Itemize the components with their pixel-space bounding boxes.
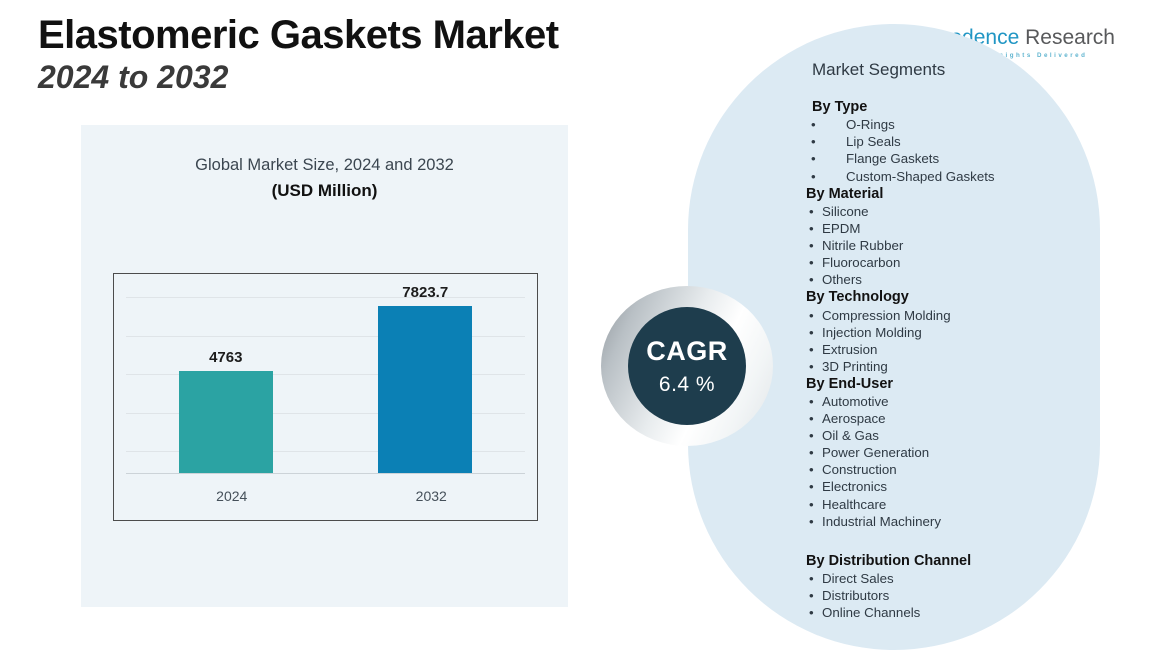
- logo-name-research: Research: [1019, 26, 1115, 49]
- segment-spacer: [806, 530, 1096, 552]
- segment-item: Silicone: [806, 203, 1096, 220]
- segment-group-title: By Material: [806, 185, 1096, 203]
- segment-item: Others: [806, 271, 1096, 288]
- segment-item: Online Channels: [806, 604, 1096, 621]
- bar-value-2032: 7823.7: [402, 284, 448, 301]
- cagr-label: CAGR: [646, 338, 728, 365]
- segment-item: O-Rings: [806, 116, 1096, 133]
- segment-item: Compression Molding: [806, 307, 1096, 324]
- segment-item: Construction: [806, 461, 1096, 478]
- main-title: Elastomeric Gaskets Market: [38, 14, 658, 57]
- plot-area: 4763 7823.7: [126, 282, 525, 474]
- bar-chart: 4763 7823.7 2024 2032: [113, 273, 538, 521]
- segment-group-title: By Type: [806, 98, 1096, 116]
- segment-item: Aerospace: [806, 410, 1096, 427]
- segment-item: EPDM: [806, 220, 1096, 237]
- segment-item: Automotive: [806, 393, 1096, 410]
- chart-panel: Global Market Size, 2024 and 2032 (USD M…: [81, 125, 568, 607]
- axis-baseline: [126, 473, 525, 474]
- segment-item: Distributors: [806, 587, 1096, 604]
- segment-item: Nitrile Rubber: [806, 237, 1096, 254]
- segment-item: Extrusion: [806, 341, 1096, 358]
- cagr-circle: CAGR 6.4 %: [628, 307, 746, 425]
- market-segments-title: Market Segments: [812, 60, 945, 80]
- chart-heading: Global Market Size, 2024 and 2032 (USD M…: [81, 125, 568, 203]
- bar-2032[interactable]: 7823.7: [378, 306, 472, 473]
- category-label-2024: 2024: [126, 488, 338, 504]
- segment-group-title: By End-User: [806, 375, 1096, 393]
- segment-item: Injection Molding: [806, 324, 1096, 341]
- segment-item: Industrial Machinery: [806, 513, 1096, 530]
- segment-item: Direct Sales: [806, 570, 1096, 587]
- cagr-badge: CAGR 6.4 %: [601, 286, 773, 446]
- market-segments-list: By TypeO-RingsLip SealsFlange GasketsCus…: [806, 98, 1096, 621]
- segment-item: Custom-Shaped Gaskets: [806, 168, 1096, 185]
- bar-group-2032: 7823.7: [326, 281, 526, 473]
- segment-item: Fluorocarbon: [806, 254, 1096, 271]
- segment-item: 3D Printing: [806, 358, 1096, 375]
- cagr-value: 6.4 %: [659, 374, 715, 395]
- segment-item: Healthcare: [806, 496, 1096, 513]
- bar-group-2024: 4763: [126, 281, 326, 473]
- segment-group-title: By Distribution Channel: [806, 552, 1096, 570]
- bar-value-2024: 4763: [209, 349, 242, 366]
- category-label-2032: 2032: [326, 488, 538, 504]
- segment-item: Electronics: [806, 478, 1096, 495]
- segment-group-title: By Technology: [806, 288, 1096, 306]
- segment-item: Lip Seals: [806, 133, 1096, 150]
- segment-item: Oil & Gas: [806, 427, 1096, 444]
- chart-heading-line1: Global Market Size, 2024 and 2032: [81, 153, 568, 178]
- segment-item: Power Generation: [806, 444, 1096, 461]
- subtitle-years: 2024 to 2032: [38, 59, 658, 96]
- chart-heading-line2: (USD Million): [81, 178, 568, 204]
- page-title: Elastomeric Gaskets Market 2024 to 2032: [38, 14, 658, 96]
- segment-item: Flange Gaskets: [806, 150, 1096, 167]
- bar-2024[interactable]: 4763: [179, 371, 273, 473]
